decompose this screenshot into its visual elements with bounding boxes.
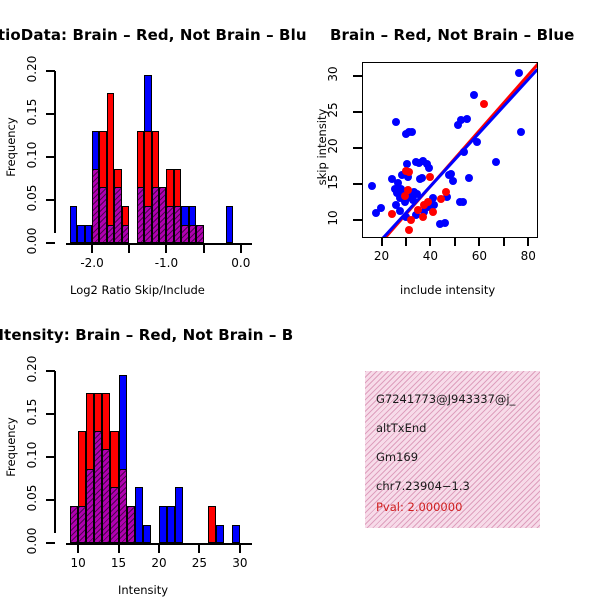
histogram-bar [167,506,175,543]
ratio-histogram-xlabel: Log2 Ratio Skip/Include [70,283,205,297]
y-tick-label: 0.15 [25,390,39,434]
scatter-point [470,91,478,99]
intensity-histogram-panel: ne Itensity: Brain – Red, Not Brain – B … [0,300,300,600]
x-tick-mark [128,245,130,253]
scatter-point [426,173,434,181]
x-tick-mark [158,545,160,553]
histogram-bar [216,525,224,543]
y-tick-mark [46,456,55,458]
scatter-point [377,204,385,212]
x-tick-mark [478,238,480,246]
x-tick-label: -2.0 [72,256,112,270]
scatter-point [392,118,400,126]
histogram-bar [70,206,77,243]
y-tick-mark [46,113,55,115]
histogram-bar [143,525,151,543]
gene-info-line: altTxEnd [376,421,426,435]
y-tick-label: 0.10 [25,133,39,177]
x-tick-label: 30 [220,556,260,570]
y-tick-label: 20 [326,126,340,166]
histogram-bar-overlap [94,431,102,543]
scatter-panel: Brain – Red, Not Brain – Blue skip inten… [300,0,600,310]
scatter-point [405,226,413,234]
x-tick-mark [118,545,120,553]
y-tick-mark [46,242,55,244]
scatter-point [515,69,523,77]
histogram-bar-overlap [159,187,166,243]
scatter-point [408,128,416,136]
histogram-bar [77,225,84,243]
x-tick-label: 15 [99,556,139,570]
histogram-bar-overlap [144,206,151,243]
histogram-bar-overlap [137,187,144,243]
x-tick-label: 80 [508,249,548,263]
histogram-bar-overlap [110,487,118,543]
x-tick-mark [240,245,242,253]
intensity-histogram-ylabel: Frequency [4,412,18,482]
y-tick-label: 15 [326,162,340,202]
intensity-histogram-y-axis [54,371,56,533]
x-tick-mark [239,545,241,553]
y-tick-mark [353,219,362,221]
y-tick-mark [46,413,55,415]
ratio-histogram-panel: RatioData: Brain – Red, Not Brain – Blu … [0,0,300,310]
scatter-point [418,174,426,182]
y-tick-label: 0.15 [25,90,39,134]
scatter-point [463,115,471,123]
y-tick-label: 0.20 [25,347,39,391]
y-tick-mark [353,183,362,185]
x-tick-mark [77,545,79,553]
histogram-bar-overlap [78,506,86,543]
histogram-bar [226,206,233,243]
scatter-point [492,158,500,166]
gene-info-pval: Pval: 2.000000 [376,500,462,514]
y-tick-label: 10 [326,198,340,238]
scatter-point [437,195,445,203]
y-tick-mark [353,111,362,113]
ratio-histogram-title: RatioData: Brain – Red, Not Brain – Blu [0,26,307,44]
y-tick-mark [353,75,362,77]
histogram-bar-overlap [99,187,106,243]
scatter-point [388,210,396,218]
scatter-point [368,182,376,190]
scatter-point [473,138,481,146]
histogram-bar-overlap [152,187,159,243]
histogram-bar [159,506,167,543]
x-tick-label: 10 [58,556,98,570]
gene-info-line: chr7.23904−1.3 [376,479,470,493]
scatter-points [363,63,537,237]
histogram-bar [175,487,183,543]
ratio-histogram-y-axis [54,71,56,233]
histogram-bar [85,225,92,243]
scatter-point [517,128,525,136]
x-tick-label: 40 [410,249,450,263]
scatter-point [413,190,421,198]
x-tick-mark [91,245,93,253]
scatter-point [465,174,473,182]
y-tick-label: 0.05 [25,176,39,220]
scatter-point [425,164,433,172]
histogram-bar-overlap [102,449,110,543]
scatter-point [454,121,462,129]
y-tick-mark [46,70,55,72]
histogram-bar-overlap [196,225,203,243]
y-tick-label: 0.05 [25,476,39,520]
x-tick-mark [405,238,407,246]
scatter-point [419,213,427,221]
y-tick-mark [46,499,55,501]
gene-info-line: G7241773@J943337@j_ [376,392,515,406]
y-tick-mark [353,147,362,149]
ratio-histogram-ylabel: Frequency [4,112,18,182]
histogram-bar-overlap [114,187,121,243]
scatter-plot-frame [362,62,538,238]
y-tick-mark [46,156,55,158]
x-tick-label: 20 [139,556,179,570]
histogram-bar-overlap [86,469,94,543]
x-tick-mark [198,545,200,553]
scatter-title: Brain – Red, Not Brain – Blue [330,26,574,44]
histogram-bar-overlap [189,225,196,243]
y-tick-label: 30 [326,54,340,94]
x-tick-mark [429,238,431,246]
histogram-bar-overlap [122,225,129,243]
y-tick-label: 0.10 [25,433,39,477]
x-tick-mark [503,238,505,246]
y-tick-label: 0.00 [25,219,39,263]
scatter-point [412,158,420,166]
histogram-bar-overlap [181,225,188,243]
histogram-bar-overlap [107,225,114,243]
histogram-bar [107,93,114,243]
histogram-bar-overlap [166,206,173,243]
histogram-bar [232,525,240,543]
scatter-point [401,192,409,200]
histogram-bar-overlap [127,506,135,543]
intensity-histogram-title: ne Itensity: Brain – Red, Not Brain – B [0,326,293,344]
scatter-xlabel: include intensity [400,283,495,297]
intensity-histogram-xlabel: Intensity [118,583,168,597]
ratio-histogram-x-axis [66,243,252,245]
scatter-point [429,208,437,216]
y-tick-mark [46,199,55,201]
x-tick-mark [381,238,383,246]
scatter-point [480,100,488,108]
histogram-bar [208,506,216,543]
gene-info-line: Gm169 [376,450,418,464]
x-tick-label: 60 [459,249,499,263]
y-tick-label: 25 [326,90,340,130]
x-tick-label: -1.0 [146,256,186,270]
scatter-point [441,219,449,227]
histogram-bar-overlap [92,169,99,243]
histogram-bar-overlap [119,469,127,543]
y-tick-mark [46,370,55,372]
x-tick-label: 0.0 [221,256,261,270]
histogram-bar-overlap [174,206,181,243]
scatter-point [459,198,467,206]
x-tick-label: 25 [179,556,219,570]
scatter-point [460,148,468,156]
x-tick-mark [454,238,456,246]
gene-info-box: G7241773@J943337@j_altTxEndGm169chr7.239… [365,371,540,528]
scatter-point [424,198,432,206]
x-tick-mark [203,245,205,253]
y-tick-label: 0.20 [25,47,39,91]
scatter-point [449,177,457,185]
x-tick-label: 20 [362,249,402,263]
scatter-point [407,216,415,224]
x-tick-mark [165,245,167,253]
histogram-bar-overlap [70,506,78,543]
y-tick-mark [46,542,55,544]
x-tick-mark [527,238,529,246]
y-tick-label: 0.00 [25,519,39,563]
scatter-point [405,168,413,176]
histogram-bar [135,487,143,543]
